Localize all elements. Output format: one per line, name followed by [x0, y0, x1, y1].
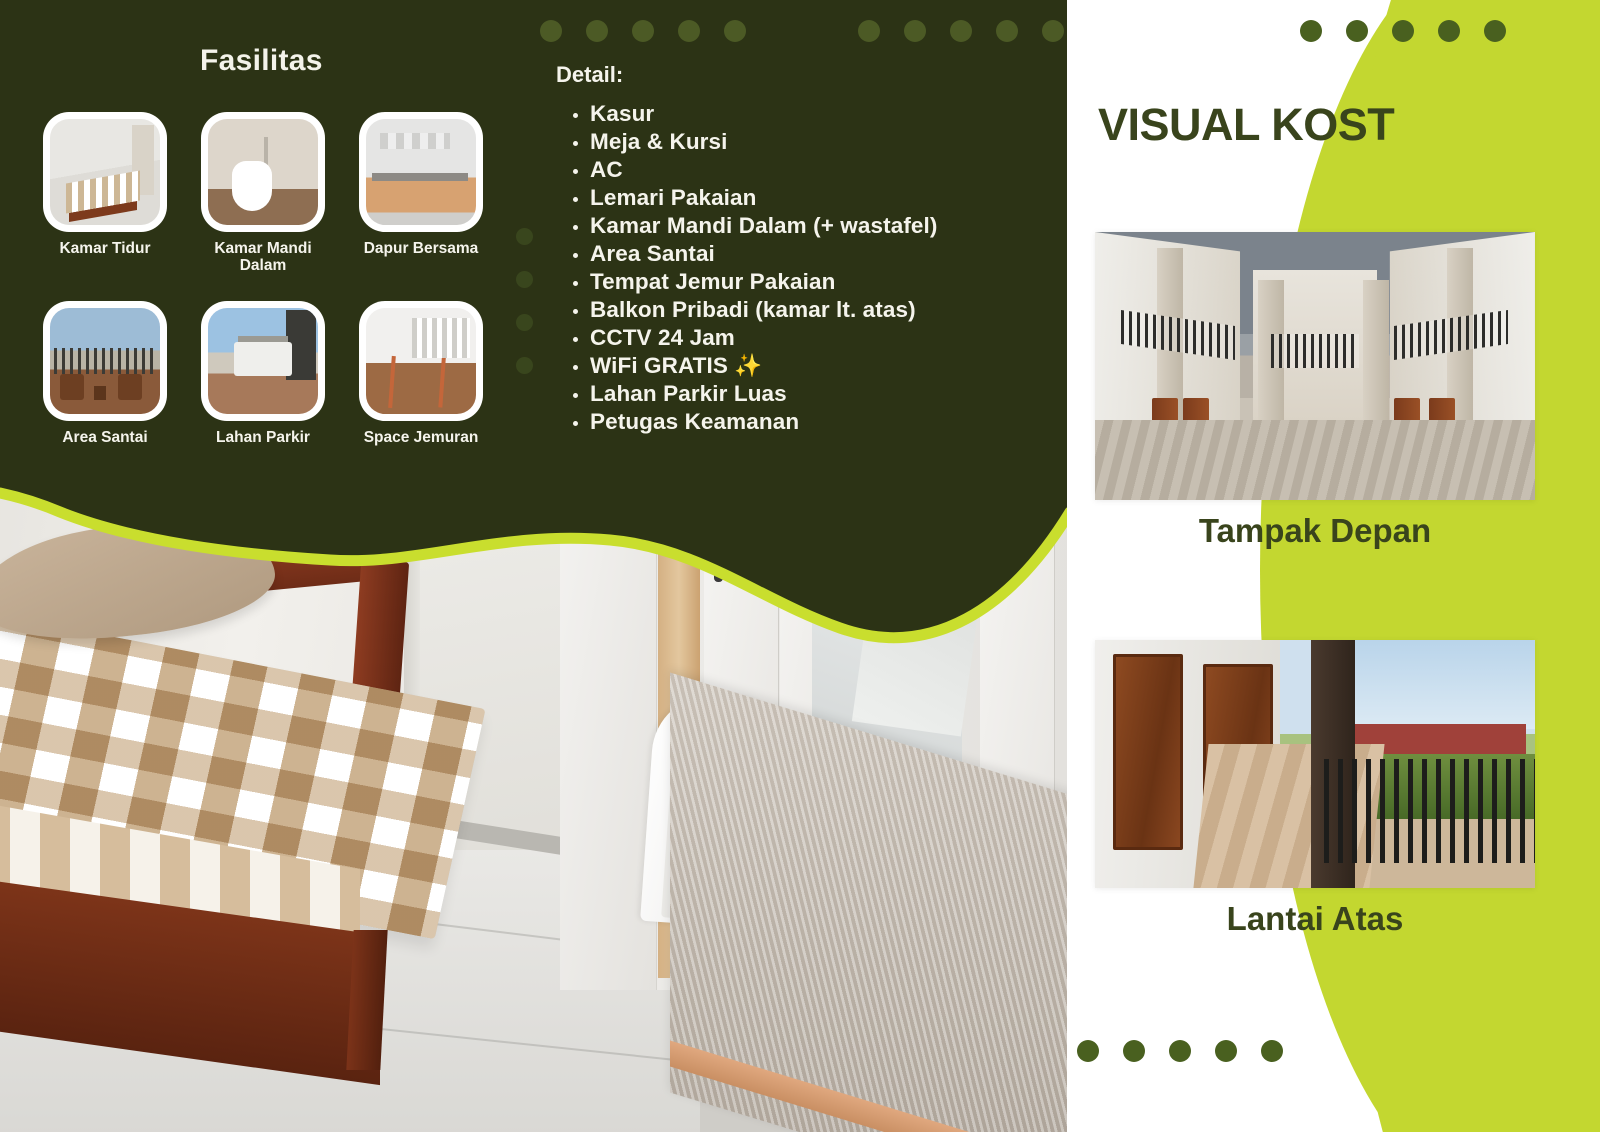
- decorative-dot-icon: [1346, 20, 1368, 42]
- dot-row-right: [858, 20, 1064, 42]
- decorative-dot-icon: [1392, 20, 1414, 42]
- facility-thumb-frame: [43, 301, 167, 421]
- facility-item[interactable]: Kamar Mandi Dalam: [198, 112, 328, 275]
- photo-caption: Tampak Depan: [1095, 512, 1535, 550]
- balcony-railing: [1324, 759, 1535, 863]
- facility-thumb-frame: [43, 112, 167, 232]
- decorative-dot-icon: [1042, 20, 1064, 42]
- dot-column: [516, 228, 533, 374]
- detail-list: Kasur Meja & Kursi AC Lemari Pakaian Kam…: [556, 100, 938, 436]
- facility-label: Space Jemuran: [364, 429, 479, 446]
- upper-floor-corridor-photo: [1095, 640, 1535, 888]
- facility-label: Area Santai: [62, 429, 147, 446]
- parking-photo: [208, 308, 318, 414]
- decorative-dot-icon: [1438, 20, 1460, 42]
- detail-block: Detail: Kasur Meja & Kursi AC Lemari Pak…: [556, 62, 938, 436]
- decorative-dot-icon: [950, 20, 972, 42]
- facility-thumb-frame: [359, 301, 483, 421]
- decorative-dot-icon: [996, 20, 1018, 42]
- decorative-dot-icon: [1484, 20, 1506, 42]
- facility-label: Kamar Tidur: [59, 240, 150, 257]
- detail-heading: Detail:: [556, 62, 938, 88]
- decorative-dot-icon: [1215, 1040, 1237, 1062]
- laundry-photo: [366, 308, 476, 414]
- left-column: Fasilitas Kamar Tidur Kamar Mandi Dalam …: [0, 0, 1067, 1132]
- visual-kost-title: VISUAL KOST: [1098, 99, 1394, 151]
- detail-item: Kasur: [590, 100, 938, 128]
- kitchen-photo: [366, 119, 476, 225]
- decorative-dot-icon: [516, 271, 533, 288]
- decorative-dot-icon: [516, 228, 533, 245]
- decorative-dot-icon: [1077, 1040, 1099, 1062]
- facility-thumb-frame: [201, 112, 325, 232]
- detail-item: Kamar Mandi Dalam (+ wastafel): [590, 212, 938, 240]
- detail-item: Lemari Pakaian: [590, 184, 938, 212]
- facility-item[interactable]: Space Jemuran: [356, 301, 486, 446]
- facilities-title: Fasilitas: [200, 44, 323, 78]
- decorative-dot-icon: [540, 20, 562, 42]
- decorative-dot-icon: [858, 20, 880, 42]
- decorative-dot-icon: [724, 20, 746, 42]
- right-column: VISUAL KOST Tampak Depan: [1067, 0, 1600, 1132]
- lounge-photo: [50, 308, 160, 414]
- decorative-dot-icon: [1300, 20, 1322, 42]
- bedroom-photo: [50, 119, 160, 225]
- detail-item: WiFi GRATIS ✨: [590, 352, 938, 380]
- decorative-dot-icon: [678, 20, 700, 42]
- dot-row-top-right: [1300, 20, 1506, 42]
- dot-row-left: [540, 20, 746, 42]
- decorative-dot-icon: [516, 357, 533, 374]
- detail-item: Meja & Kursi: [590, 128, 938, 156]
- bathroom-photo: [208, 119, 318, 225]
- decorative-dot-icon: [1169, 1040, 1191, 1062]
- courtyard-paving: [1095, 420, 1535, 500]
- decorative-dot-icon: [1123, 1040, 1145, 1062]
- decorative-dot-icon: [632, 20, 654, 42]
- lime-blob-shape-2: [1330, 0, 1600, 1132]
- detail-item: Petugas Keamanan: [590, 408, 938, 436]
- detail-item: Tempat Jemur Pakaian: [590, 268, 938, 296]
- detail-item: Area Santai: [590, 240, 938, 268]
- facility-item[interactable]: Dapur Bersama: [356, 112, 486, 275]
- facility-label: Kamar Mandi Dalam: [198, 240, 328, 275]
- facility-thumb-frame: [201, 301, 325, 421]
- detail-item: Balkon Pribadi (kamar lt. atas): [590, 296, 938, 324]
- facility-item[interactable]: Kamar Tidur: [40, 112, 170, 275]
- detail-item: CCTV 24 Jam: [590, 324, 938, 352]
- detail-item: AC: [590, 156, 938, 184]
- photo-caption: Lantai Atas: [1095, 900, 1535, 938]
- facility-label: Lahan Parkir: [216, 429, 310, 446]
- dot-row-bottom-right: [1077, 1040, 1283, 1062]
- decorative-dot-icon: [516, 314, 533, 331]
- facility-item[interactable]: Lahan Parkir: [198, 301, 328, 446]
- facility-label: Dapur Bersama: [364, 240, 479, 257]
- room-door: [1113, 654, 1183, 850]
- facilities-grid: Kamar Tidur Kamar Mandi Dalam Dapur Bers…: [40, 112, 490, 446]
- decorative-dot-icon: [1261, 1040, 1283, 1062]
- detail-item: Lahan Parkir Luas: [590, 380, 938, 408]
- decorative-dot-icon: [586, 20, 608, 42]
- sky: [1324, 640, 1535, 729]
- decorative-dot-icon: [904, 20, 926, 42]
- building-front-photo: [1095, 232, 1535, 500]
- facility-thumb-frame: [359, 112, 483, 232]
- facility-item[interactable]: Area Santai: [40, 301, 170, 446]
- poster-canvas: Fasilitas Kamar Tidur Kamar Mandi Dalam …: [0, 0, 1600, 1132]
